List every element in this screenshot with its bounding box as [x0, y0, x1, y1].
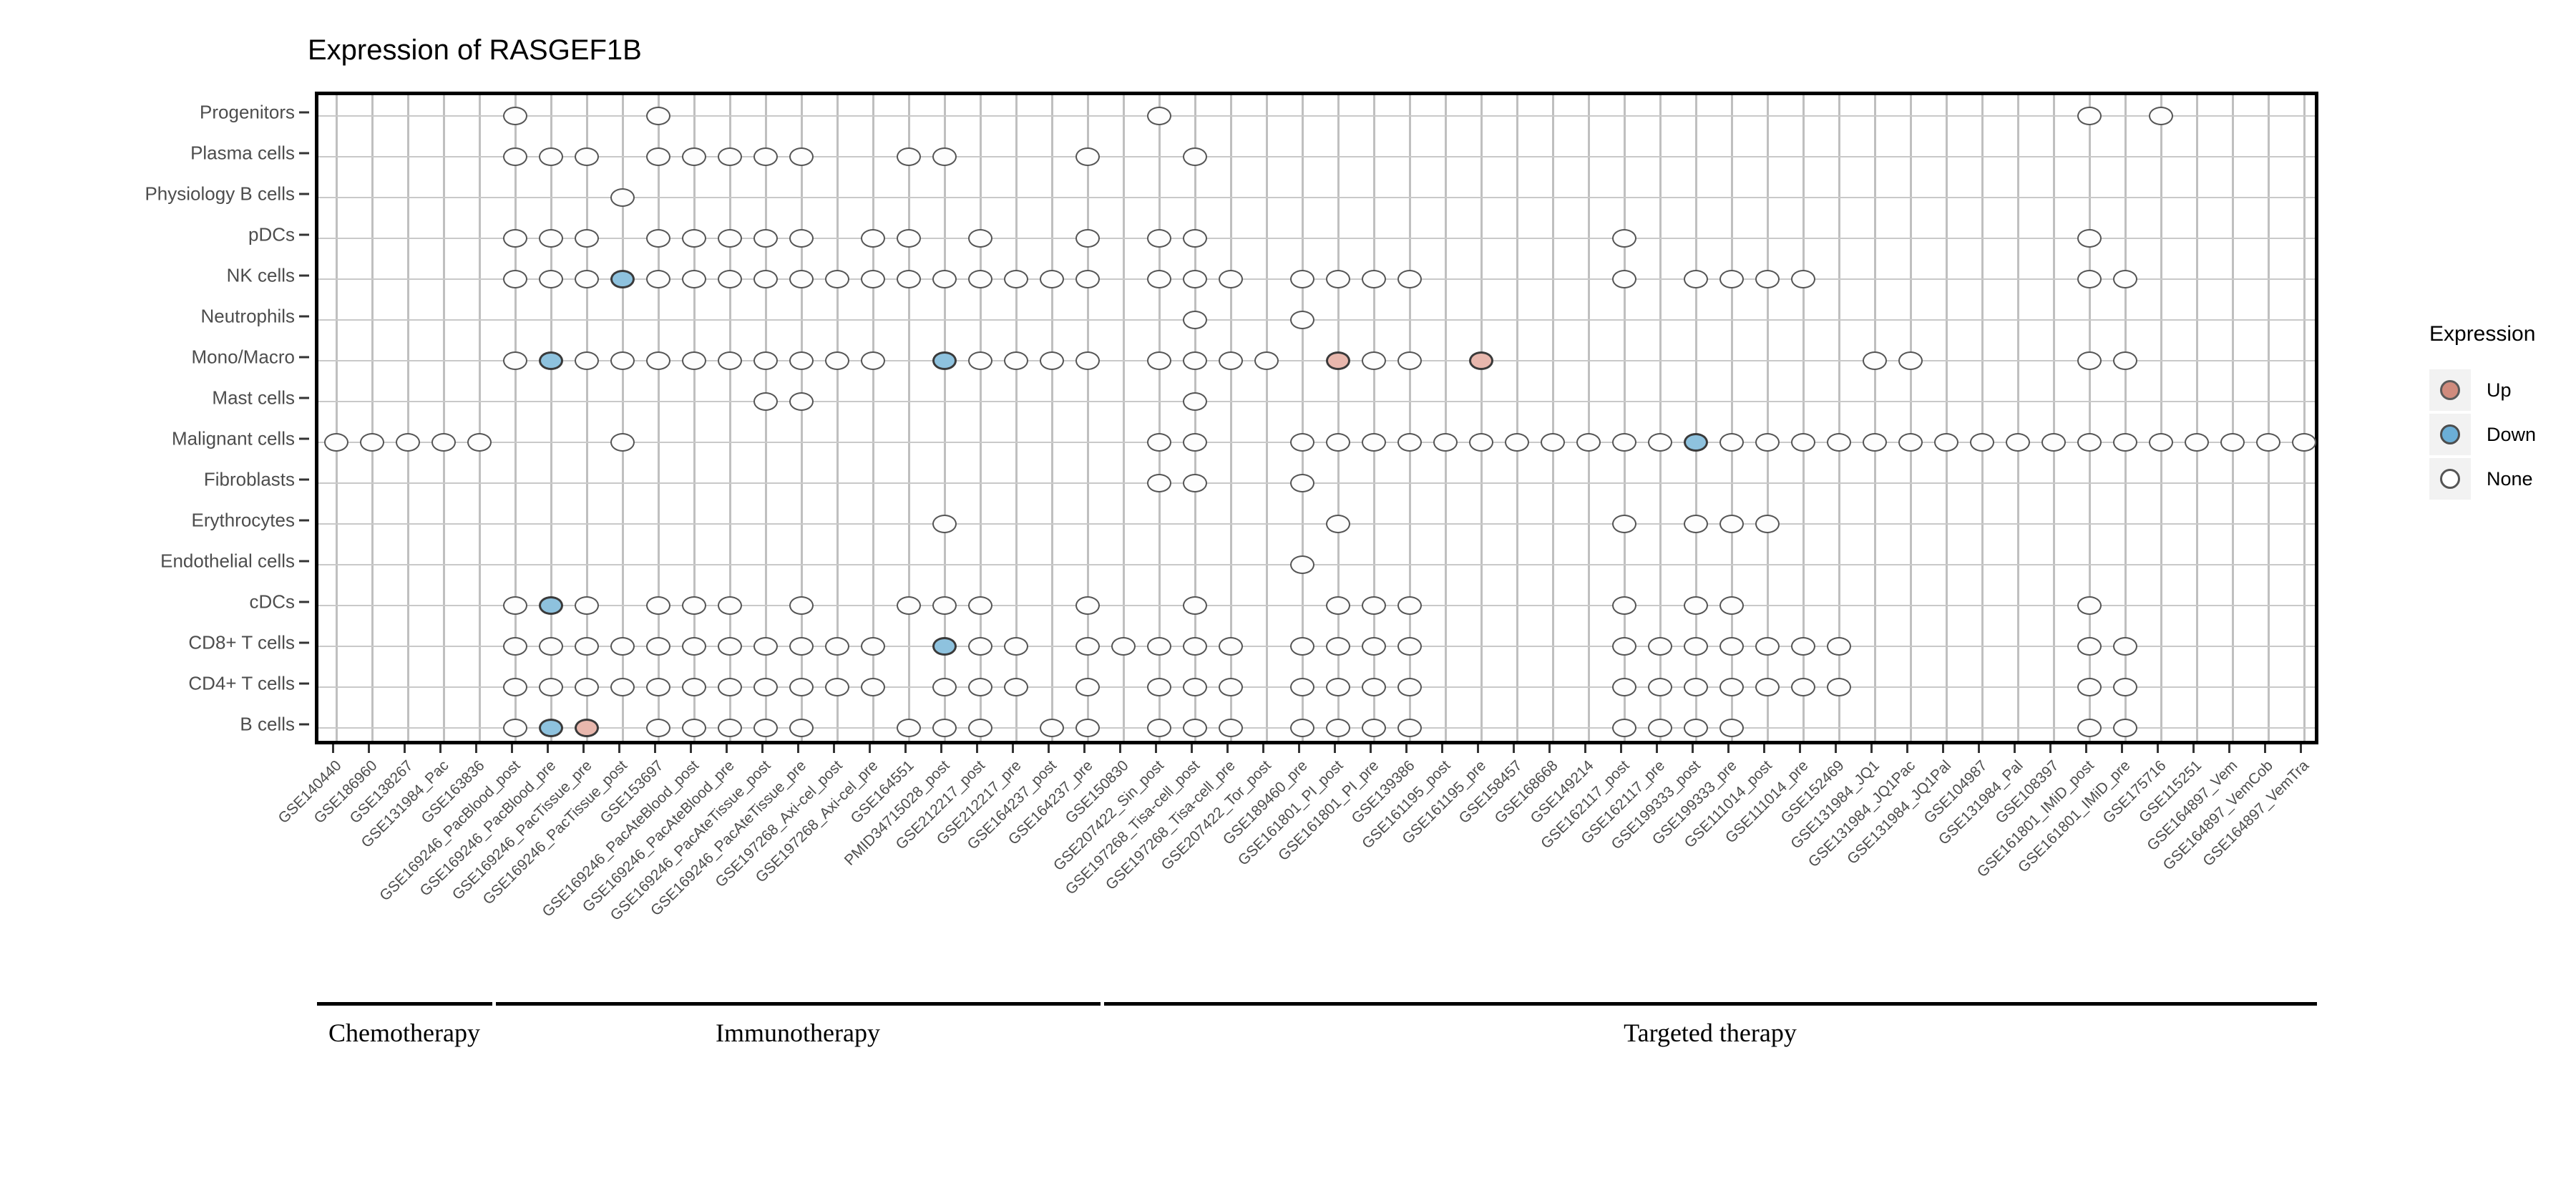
expression-dot[interactable]	[1791, 637, 1815, 656]
y-tick-mark	[299, 315, 309, 317]
expression-dot[interactable]	[1684, 678, 1708, 696]
expression-dot[interactable]	[1147, 107, 1171, 125]
expression-dot[interactable]	[1147, 474, 1171, 492]
expression-dot[interactable]	[503, 719, 527, 737]
expression-dot[interactable]	[1684, 433, 1708, 452]
y-tick-label: Neutrophils	[200, 305, 295, 327]
expression-dot[interactable]	[1219, 637, 1243, 656]
expression-dot[interactable]	[467, 433, 492, 452]
expression-dot[interactable]	[682, 719, 706, 737]
expression-dot[interactable]	[1719, 637, 1744, 656]
expression-dot[interactable]	[1290, 433, 1314, 452]
expression-dot[interactable]	[1183, 596, 1207, 615]
expression-dot[interactable]	[789, 678, 814, 696]
expression-dot[interactable]	[789, 229, 814, 248]
expression-dot[interactable]	[646, 637, 670, 656]
expression-dot[interactable]	[1755, 515, 1780, 533]
expression-dot[interactable]	[1075, 270, 1100, 288]
expression-dot[interactable]	[575, 596, 599, 615]
expression-dot[interactable]	[2041, 433, 2066, 452]
expression-dot[interactable]	[861, 351, 885, 370]
expression-dot[interactable]	[503, 229, 527, 248]
expression-dot[interactable]	[1219, 351, 1243, 370]
expression-dot[interactable]	[1183, 392, 1207, 411]
expression-dot[interactable]	[539, 147, 563, 166]
expression-dot[interactable]	[1326, 596, 1350, 615]
expression-dot[interactable]	[1183, 311, 1207, 329]
expression-dot[interactable]	[861, 678, 885, 696]
expression-dot[interactable]	[1183, 433, 1207, 452]
expression-dot[interactable]	[2077, 637, 2102, 656]
expression-dot[interactable]	[682, 147, 706, 166]
expression-dot[interactable]	[1719, 719, 1744, 737]
expression-dot[interactable]	[1326, 433, 1350, 452]
expression-dot[interactable]	[718, 678, 742, 696]
expression-dot[interactable]	[1326, 515, 1350, 533]
expression-dot[interactable]	[2113, 433, 2137, 452]
expression-dot[interactable]	[2113, 637, 2137, 656]
expression-dot[interactable]	[503, 147, 527, 166]
expression-dot[interactable]	[431, 433, 456, 452]
expression-dot[interactable]	[718, 270, 742, 288]
expression-dot[interactable]	[1075, 351, 1100, 370]
expression-dot[interactable]	[1576, 433, 1601, 452]
expression-dot[interactable]	[1290, 719, 1314, 737]
expression-dot[interactable]	[2256, 433, 2280, 452]
expression-dot[interactable]	[610, 678, 635, 696]
expression-dot[interactable]	[1183, 719, 1207, 737]
expression-dot[interactable]	[825, 270, 849, 288]
x-tick-mark	[1012, 744, 1014, 753]
expression-dot[interactable]	[753, 678, 778, 696]
legend-title: Expression	[2429, 322, 2572, 346]
expression-dot[interactable]	[2006, 433, 2030, 452]
expression-dot[interactable]	[1612, 270, 1636, 288]
expression-dot[interactable]	[968, 719, 992, 737]
expression-dot[interactable]	[1612, 678, 1636, 696]
expression-dot[interactable]	[1362, 270, 1386, 288]
expression-dot[interactable]	[932, 596, 957, 615]
expression-dot[interactable]	[897, 147, 921, 166]
expression-dot[interactable]	[575, 637, 599, 656]
expression-dot[interactable]	[539, 596, 563, 615]
expression-dot[interactable]	[575, 351, 599, 370]
expression-dot[interactable]	[1863, 351, 1887, 370]
expression-dot[interactable]	[1326, 637, 1350, 656]
expression-dot[interactable]	[2077, 229, 2102, 248]
expression-dot[interactable]	[2113, 351, 2137, 370]
expression-dot[interactable]	[1827, 433, 1851, 452]
y-tick-mark	[299, 356, 309, 358]
expression-dot[interactable]	[2149, 107, 2173, 125]
expression-dot[interactable]	[932, 270, 957, 288]
expression-dot[interactable]	[1827, 637, 1851, 656]
expression-dot[interactable]	[825, 637, 849, 656]
x-tick-mark	[1548, 744, 1551, 753]
expression-dot[interactable]	[1147, 270, 1171, 288]
expression-dot[interactable]	[610, 433, 635, 452]
expression-dot[interactable]	[2077, 351, 2102, 370]
expression-dot[interactable]	[2077, 107, 2102, 125]
x-tick-mark	[2264, 744, 2266, 753]
expression-dot[interactable]	[1075, 719, 1100, 737]
expression-dot[interactable]	[1290, 637, 1314, 656]
expression-dot[interactable]	[789, 392, 814, 411]
expression-dot[interactable]	[682, 637, 706, 656]
expression-dot[interactable]	[1004, 351, 1028, 370]
expression-dot[interactable]	[968, 229, 992, 248]
expression-dot[interactable]	[646, 107, 670, 125]
legend-label: None	[2487, 468, 2533, 490]
expression-dot[interactable]	[682, 270, 706, 288]
expression-dot[interactable]	[1004, 270, 1028, 288]
expression-dot[interactable]	[1648, 433, 1672, 452]
expression-dot[interactable]	[753, 637, 778, 656]
expression-dot[interactable]	[1219, 270, 1243, 288]
expression-dot[interactable]	[789, 637, 814, 656]
expression-dot[interactable]	[1791, 433, 1815, 452]
expression-dot[interactable]	[1004, 637, 1028, 656]
expression-dot[interactable]	[1111, 637, 1136, 656]
expression-dot[interactable]	[1719, 270, 1744, 288]
expression-dot[interactable]	[1469, 433, 1493, 452]
expression-dot[interactable]	[1254, 351, 1279, 370]
expression-dot[interactable]	[753, 270, 778, 288]
expression-dot[interactable]	[1898, 351, 1923, 370]
expression-dot[interactable]	[1075, 147, 1100, 166]
expression-dot[interactable]	[1290, 474, 1314, 492]
x-tick-mark	[2157, 744, 2159, 753]
expression-dot[interactable]	[1719, 433, 1744, 452]
expression-dot[interactable]	[1147, 637, 1171, 656]
expression-dot[interactable]	[1791, 678, 1815, 696]
expression-dot[interactable]	[1755, 678, 1780, 696]
expression-dot[interactable]	[2149, 433, 2173, 452]
expression-dot[interactable]	[1397, 719, 1422, 737]
expression-dot[interactable]	[2077, 678, 2102, 696]
legend: Expression UpDownNone	[2429, 322, 2572, 501]
expression-dot[interactable]	[968, 351, 992, 370]
expression-dot[interactable]	[1755, 433, 1780, 452]
x-tick-mark	[940, 744, 942, 753]
expression-dot[interactable]	[1970, 433, 1994, 452]
expression-dot[interactable]	[1326, 351, 1350, 370]
expression-dot[interactable]	[1290, 270, 1314, 288]
expression-dot[interactable]	[861, 637, 885, 656]
group-bracket-bar	[317, 1002, 492, 1006]
expression-dot[interactable]	[1612, 515, 1636, 533]
expression-dot[interactable]	[932, 719, 957, 737]
expression-dot[interactable]	[1290, 555, 1314, 574]
legend-label: Down	[2487, 424, 2536, 446]
expression-dot[interactable]	[539, 270, 563, 288]
expression-dot[interactable]	[610, 637, 635, 656]
expression-dot[interactable]	[825, 678, 849, 696]
x-tick-mark	[1334, 744, 1336, 753]
expression-dot[interactable]	[718, 351, 742, 370]
expression-dot[interactable]	[718, 147, 742, 166]
expression-dot[interactable]	[1290, 311, 1314, 329]
expression-dot[interactable]	[789, 596, 814, 615]
expression-dot[interactable]	[1362, 678, 1386, 696]
expression-dot[interactable]	[753, 392, 778, 411]
expression-dot[interactable]	[2077, 270, 2102, 288]
legend-item[interactable]: Up	[2429, 368, 2572, 412]
expression-dot[interactable]	[1684, 719, 1708, 737]
expression-dot[interactable]	[932, 147, 957, 166]
expression-dot[interactable]	[1040, 270, 1064, 288]
expression-dot[interactable]	[1397, 678, 1422, 696]
legend-key-box	[2429, 414, 2471, 455]
expression-dot[interactable]	[646, 147, 670, 166]
x-tick-mark	[797, 744, 799, 753]
expression-dot[interactable]	[1362, 596, 1386, 615]
expression-dot[interactable]	[1362, 637, 1386, 656]
expression-dot[interactable]	[968, 270, 992, 288]
expression-dot[interactable]	[1469, 351, 1493, 370]
x-tick-mark	[1656, 744, 1658, 753]
y-tick-label: Mono/Macro	[192, 346, 296, 368]
x-tick-mark	[1441, 744, 1443, 753]
x-tick-mark	[1155, 744, 1157, 753]
expression-dot[interactable]	[1004, 678, 1028, 696]
expression-dot[interactable]	[503, 351, 527, 370]
expression-dot[interactable]	[1898, 433, 1923, 452]
x-tick-mark	[1298, 744, 1300, 753]
expression-dot[interactable]	[682, 229, 706, 248]
expression-dot[interactable]	[2077, 719, 2102, 737]
expression-dot[interactable]	[575, 678, 599, 696]
expression-dot[interactable]	[1719, 515, 1744, 533]
expression-dot[interactable]	[575, 719, 599, 737]
expression-dot[interactable]	[575, 270, 599, 288]
expression-dot[interactable]	[539, 351, 563, 370]
expression-dot[interactable]	[718, 637, 742, 656]
expression-dot[interactable]	[897, 596, 921, 615]
expression-dot[interactable]	[1612, 719, 1636, 737]
expression-dot[interactable]	[897, 270, 921, 288]
expression-dot[interactable]	[1505, 433, 1529, 452]
expression-dot[interactable]	[610, 188, 635, 207]
expression-dot[interactable]	[932, 351, 957, 370]
x-tick-mark	[332, 744, 334, 753]
expression-dot[interactable]	[1362, 719, 1386, 737]
expression-dot[interactable]	[1147, 351, 1171, 370]
expression-dot[interactable]	[1183, 147, 1207, 166]
group-bracket-bar	[1104, 1002, 2317, 1006]
expression-dot[interactable]	[503, 270, 527, 288]
y-tick-label: Endothelial cells	[160, 550, 295, 572]
expression-dot[interactable]	[1719, 678, 1744, 696]
expression-dot[interactable]	[360, 433, 384, 452]
x-tick-mark	[1978, 744, 1980, 753]
expression-dot[interactable]	[1397, 351, 1422, 370]
expression-dot[interactable]	[1075, 596, 1100, 615]
expression-dot[interactable]	[2113, 270, 2137, 288]
x-tick-mark	[833, 744, 835, 753]
expression-dot[interactable]	[1433, 433, 1458, 452]
x-tick-mark	[2085, 744, 2087, 753]
expression-dot[interactable]	[932, 637, 957, 656]
legend-item[interactable]: Down	[2429, 412, 2572, 457]
expression-dot[interactable]	[825, 351, 849, 370]
expression-dot[interactable]	[1612, 637, 1636, 656]
expression-dot[interactable]	[2113, 719, 2137, 737]
expression-dot[interactable]	[1612, 229, 1636, 248]
expression-dot[interactable]	[646, 596, 670, 615]
expression-dot[interactable]	[1648, 678, 1672, 696]
x-tick-mark	[654, 744, 656, 753]
expression-dot[interactable]	[646, 351, 670, 370]
x-tick-mark	[1799, 744, 1801, 753]
x-tick-mark	[618, 744, 620, 753]
expression-dot[interactable]	[575, 147, 599, 166]
expression-dot[interactable]	[503, 596, 527, 615]
expression-dot[interactable]	[646, 229, 670, 248]
expression-dot[interactable]	[2077, 596, 2102, 615]
expression-dot[interactable]	[753, 351, 778, 370]
expression-dot[interactable]	[1040, 719, 1064, 737]
expression-dot[interactable]	[682, 351, 706, 370]
expression-dot[interactable]	[1183, 270, 1207, 288]
expression-dot[interactable]	[539, 719, 563, 737]
expression-dot[interactable]	[1075, 229, 1100, 248]
expression-dot[interactable]	[682, 596, 706, 615]
expression-dot[interactable]	[968, 596, 992, 615]
expression-dot[interactable]	[968, 637, 992, 656]
x-tick-mark	[904, 744, 907, 753]
expression-dot[interactable]	[789, 270, 814, 288]
expression-dot[interactable]	[1612, 596, 1636, 615]
expression-dot[interactable]	[1147, 719, 1171, 737]
expression-dot[interactable]	[1219, 678, 1243, 696]
expression-dot[interactable]	[2185, 433, 2209, 452]
expression-dot[interactable]	[1326, 719, 1350, 737]
expression-dot[interactable]	[2292, 433, 2316, 452]
expression-dot[interactable]	[1147, 433, 1171, 452]
expression-dot[interactable]	[682, 678, 706, 696]
expression-dot[interactable]	[789, 351, 814, 370]
expression-dot[interactable]	[932, 678, 957, 696]
expression-dot[interactable]	[1075, 637, 1100, 656]
x-tick-mark	[2192, 744, 2195, 753]
expression-dot[interactable]	[2113, 678, 2137, 696]
expression-dot[interactable]	[1040, 351, 1064, 370]
legend-item[interactable]: None	[2429, 457, 2572, 501]
x-tick-mark	[511, 744, 513, 753]
expression-dot[interactable]	[324, 433, 348, 452]
expression-dot[interactable]	[1863, 433, 1887, 452]
expression-dot[interactable]	[1791, 270, 1815, 288]
expression-dot[interactable]	[575, 229, 599, 248]
expression-dot[interactable]	[753, 147, 778, 166]
expression-dot[interactable]	[1755, 270, 1780, 288]
expression-dot[interactable]	[1397, 637, 1422, 656]
y-tick-mark	[299, 641, 309, 643]
expression-dot[interactable]	[718, 229, 742, 248]
expression-dot[interactable]	[1684, 596, 1708, 615]
expression-dot[interactable]	[1934, 433, 1958, 452]
expression-dot[interactable]	[646, 270, 670, 288]
expression-dot[interactable]	[968, 678, 992, 696]
expression-dot[interactable]	[1183, 229, 1207, 248]
expression-dot[interactable]	[1075, 678, 1100, 696]
expression-dot[interactable]	[1183, 637, 1207, 656]
expression-dot[interactable]	[1827, 678, 1851, 696]
legend-swatch-up	[2440, 380, 2460, 400]
expression-dot[interactable]	[646, 719, 670, 737]
x-tick-mark	[404, 744, 406, 753]
expression-dot[interactable]	[539, 637, 563, 656]
expression-dot[interactable]	[789, 147, 814, 166]
expression-dot[interactable]	[932, 515, 957, 533]
x-tick-mark	[1870, 744, 1873, 753]
expression-dot[interactable]	[1147, 678, 1171, 696]
x-tick-mark	[1477, 744, 1479, 753]
expression-dot[interactable]	[1326, 270, 1350, 288]
expression-dot[interactable]	[1183, 678, 1207, 696]
expression-dot[interactable]	[610, 351, 635, 370]
expression-dot[interactable]	[503, 637, 527, 656]
expression-dot[interactable]	[897, 719, 921, 737]
y-tick-label: Progenitors	[200, 101, 295, 123]
expression-dot[interactable]	[789, 719, 814, 737]
expression-dot[interactable]	[753, 719, 778, 737]
expression-dot[interactable]	[1147, 229, 1171, 248]
expression-dot[interactable]	[753, 229, 778, 248]
expression-dot[interactable]	[2220, 433, 2245, 452]
expression-dot[interactable]	[1755, 637, 1780, 656]
expression-dot[interactable]	[1684, 270, 1708, 288]
expression-dot[interactable]	[1648, 637, 1672, 656]
expression-dot[interactable]	[2077, 433, 2102, 452]
expression-dot[interactable]	[718, 596, 742, 615]
expression-dot[interactable]	[1612, 433, 1636, 452]
y-tick-mark	[299, 478, 309, 480]
expression-dot[interactable]	[1219, 719, 1243, 737]
expression-dot[interactable]	[396, 433, 420, 452]
expression-dot[interactable]	[1183, 474, 1207, 492]
expression-dot[interactable]	[1684, 637, 1708, 656]
y-tick-label: NK cells	[227, 264, 295, 286]
expression-dot[interactable]	[1684, 515, 1708, 533]
expression-dot[interactable]	[1719, 596, 1744, 615]
expression-dot[interactable]	[610, 270, 635, 288]
expression-dot[interactable]	[539, 678, 563, 696]
expression-dot[interactable]	[1397, 433, 1422, 452]
expression-dot[interactable]	[1397, 270, 1422, 288]
y-tick-label: CD8+ T cells	[188, 631, 295, 653]
expression-dot[interactable]	[646, 678, 670, 696]
expression-dot[interactable]	[1290, 678, 1314, 696]
expression-dot[interactable]	[1397, 596, 1422, 615]
expression-dot[interactable]	[861, 229, 885, 248]
expression-dot[interactable]	[718, 719, 742, 737]
y-tick-label: pDCs	[248, 223, 295, 246]
expression-dot[interactable]	[1183, 351, 1207, 370]
expression-dot[interactable]	[1362, 351, 1386, 370]
expression-dot[interactable]	[861, 270, 885, 288]
expression-dot[interactable]	[1541, 433, 1565, 452]
expression-dot[interactable]	[1362, 433, 1386, 452]
y-tick-label: CD4+ T cells	[188, 672, 295, 694]
expression-dot[interactable]	[1326, 678, 1350, 696]
expression-dot[interactable]	[1648, 719, 1672, 737]
expression-dot[interactable]	[539, 229, 563, 248]
expression-dot[interactable]	[897, 229, 921, 248]
expression-dot[interactable]	[503, 107, 527, 125]
expression-dot[interactable]	[503, 678, 527, 696]
